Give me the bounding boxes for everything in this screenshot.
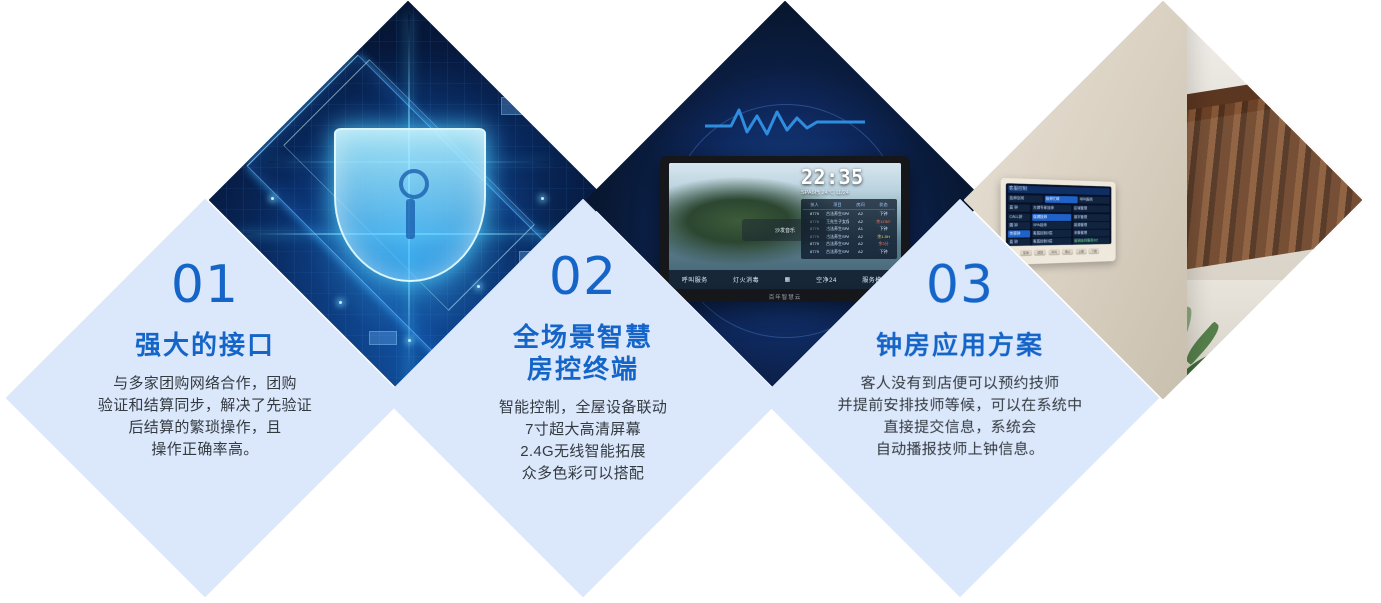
panel-left-1[interactable]: CALL钟	[1008, 213, 1030, 220]
th-2: 房间	[849, 202, 872, 208]
card-description: 与多家团购网络合作，团购 验证和结算同步，解决了先验证 后结算的繁琐操作，且 操…	[98, 373, 312, 461]
panel-tabs: 技师空闲 技师忙碌 呼叫服务	[1008, 194, 1110, 204]
spark	[477, 285, 480, 288]
panel-tab-0[interactable]: 技师空闲	[1008, 194, 1043, 202]
diamond-feature-grid: CS1280 22:35 SPA6栋 24℃ 11/24 技人 项目 房间	[0, 0, 1381, 603]
chip-block	[369, 331, 397, 345]
card-description: 客人没有到店便可以预约技师 并提前安排技师等候，可以在系统中 直接提交信息，系统…	[838, 373, 1083, 461]
card-title: 强大的接口	[135, 329, 275, 361]
panel-screen: 客服控制 技师空闲 技师忙碌 呼叫服务 直 钟 CALL钟 圆 钟 传菜钟	[1006, 183, 1111, 246]
cell-state: 余1.5H	[872, 234, 895, 240]
cell-room: A2	[849, 249, 872, 255]
card-number: 01	[171, 259, 239, 311]
table-header: 技人 项目 房间 状态	[803, 201, 895, 210]
wall-control-panel: 客服控制 技师空闲 技师忙碌 呼叫服务 直 钟 CALL钟 圆 钟 传菜钟	[1000, 178, 1115, 265]
spark	[339, 301, 342, 304]
panel-button-0[interactable]: 菜单	[1020, 250, 1032, 256]
panel-left-list: 直 钟 CALL钟 圆 钟 传菜钟 直 钟	[1008, 205, 1030, 247]
cell-state: 余11'50"	[872, 219, 895, 225]
cell-item: 王先生子女保健护	[826, 219, 849, 225]
panel-tab-2[interactable]: 呼叫服务	[1078, 196, 1109, 203]
card-description: 智能控制，全屋设备联动 7寸超大高清屏幕 2.4G无线智能拓展 众多色彩可以搭配	[499, 397, 667, 485]
cell-item: 古法养生SPA	[826, 234, 849, 240]
spark	[305, 89, 308, 92]
panel-main: 直 钟 CALL钟 圆 钟 传菜钟 直 钟 古健专家技师 保健技师 SPA技师	[1008, 205, 1110, 247]
panel-button-2[interactable]: 呼叫	[1048, 249, 1059, 255]
panel-cell-5[interactable]: 能源管理	[1072, 222, 1109, 229]
table-row: 8779 古法养生SPA A2 余3分	[803, 241, 895, 249]
tablet-bottom-bar: 呼叫服务 灯火消毒 ▦ 空净24 服务模式	[669, 270, 901, 289]
th-3: 状态	[872, 202, 895, 208]
card-title: 全场景智慧 房控终端	[513, 321, 653, 385]
panel-left-0[interactable]: 直 钟	[1008, 205, 1030, 212]
cell-room: A1	[849, 226, 872, 232]
cell-state: 下钟	[872, 211, 895, 217]
spark	[541, 197, 544, 200]
chip-block	[501, 97, 533, 115]
panel-cell-3[interactable]: 楼宇管理	[1072, 214, 1109, 221]
tablet-clock-widget: 22:35 SPA6栋 24℃ 11/24	[801, 167, 897, 196]
panel-left-3[interactable]: 传菜钟	[1008, 231, 1030, 238]
tablet-screen: 22:35 SPA6栋 24℃ 11/24 技人 项目 房间 状态	[669, 163, 901, 289]
panel-left-4[interactable]: 直 钟	[1008, 239, 1030, 246]
room-background	[1179, 1, 1362, 399]
panel-cell-0[interactable]: 古健专家技师	[1031, 205, 1071, 212]
panel-cell-2[interactable]: 保健技师	[1031, 213, 1071, 220]
bar-item-1: 灯火消毒	[733, 275, 759, 284]
cell-tech: 8779	[803, 211, 826, 217]
panel-tab-1[interactable]: 技师忙碌	[1044, 195, 1077, 203]
media-label: 沙发音乐	[775, 227, 795, 234]
plant-leaf	[1236, 335, 1281, 359]
panel-cell-1[interactable]: 区域管理	[1072, 206, 1109, 213]
panel-cell-7[interactable]: 采集管理	[1072, 230, 1109, 237]
panel-button-5[interactable]: 下翻	[1089, 248, 1100, 254]
panel-cell-9[interactable]: 营销技师服务3/2	[1072, 238, 1109, 245]
cell-tech: 8779	[803, 249, 826, 255]
cell-room: A2	[849, 219, 872, 225]
th-1: 项目	[826, 202, 849, 208]
card-title: 钟房应用方案	[876, 329, 1044, 361]
panel-button-3[interactable]: 确认	[1062, 249, 1073, 255]
cell-room: A2	[849, 211, 872, 217]
spark	[509, 61, 512, 64]
cell-state: 余3分	[872, 241, 895, 247]
spark	[408, 339, 411, 342]
cell-state: 下钟	[872, 249, 895, 255]
clock-time: 22:35	[801, 167, 897, 187]
cell-tech: 8779	[803, 241, 826, 247]
clock-status: SPA6栋 24℃ 11/24	[801, 188, 897, 196]
panel-col-right: 区域管理 楼宇管理 能源管理 采集管理 营销技师服务3/2	[1072, 206, 1109, 247]
media-overlay: 沙发音乐	[742, 219, 828, 241]
th-0: 技人	[803, 202, 826, 208]
bar-item-0: 呼叫服务	[682, 275, 708, 284]
pulse-wave-icon	[705, 104, 865, 138]
bar-item-2: 空净24	[816, 275, 837, 284]
wood-fence	[1179, 82, 1362, 270]
cell-item: 古法养生SPA	[826, 226, 849, 232]
panel-hard-buttons: 菜单 返回 呼叫 确认 上翻 下翻	[1006, 248, 1111, 257]
panel-button-4[interactable]: 上翻	[1075, 248, 1086, 254]
cell-state: 下钟	[872, 226, 895, 232]
card-number: 03	[926, 259, 994, 311]
spark	[271, 197, 274, 200]
cell-item: 古法养生SPA	[826, 211, 849, 217]
grid-apps-icon: ▦	[785, 276, 791, 283]
panel-cell-8[interactable]: 客属控制3层	[1031, 238, 1071, 246]
card-number: 02	[549, 251, 617, 303]
cell-room: A2	[849, 234, 872, 240]
plant-leaf	[1219, 375, 1280, 397]
cell-room: A2	[849, 241, 872, 247]
cell-item: 古法养生SPA	[826, 241, 849, 247]
panel-left-2[interactable]: 圆 钟	[1008, 222, 1030, 229]
chip-block	[251, 119, 275, 134]
table-row: 8779 古法养生SPA A2 下钟	[803, 248, 895, 256]
tablet-device: CS1280 22:35 SPA6栋 24℃ 11/24 技人 项目 房间	[660, 156, 910, 302]
cell-item: 古法养生SPA	[826, 249, 849, 255]
panel-col-mid: 古健专家技师 保健技师 SPA技师 客属控制2层 客属控制3层	[1031, 205, 1071, 246]
panel-cell-6[interactable]: 客属控制2层	[1031, 230, 1071, 237]
table-row: 8779 古法养生SPA A2 下钟	[803, 210, 895, 218]
panel-cell-4[interactable]: SPA技师	[1031, 222, 1071, 229]
panel-button-1[interactable]: 返回	[1034, 249, 1046, 255]
